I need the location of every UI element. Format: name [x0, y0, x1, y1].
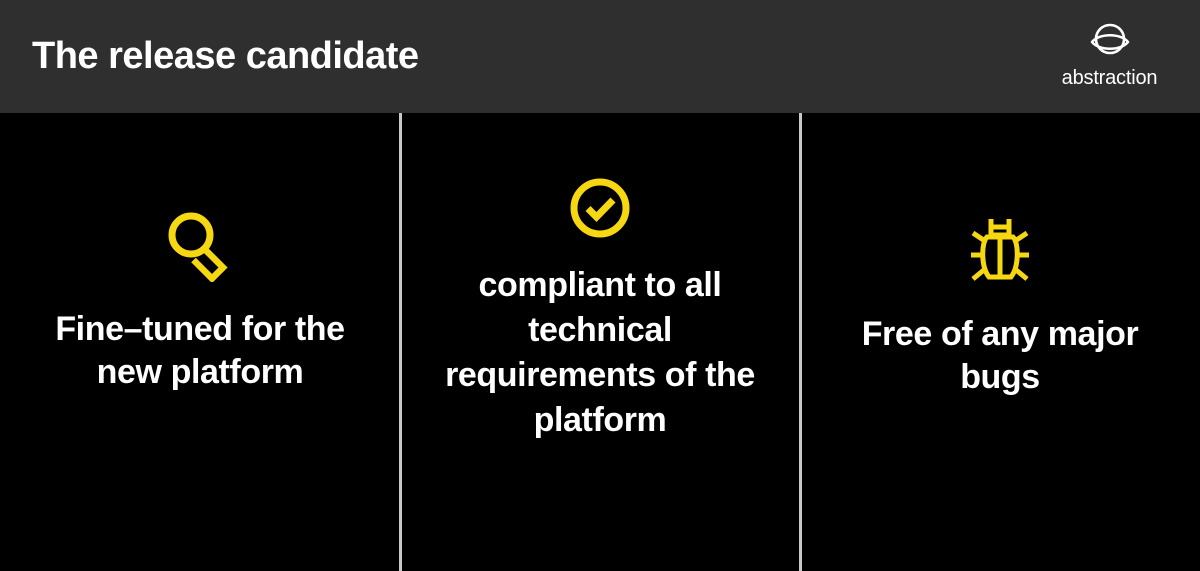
brand-logo: abstraction — [1047, 18, 1172, 89]
feature-columns: Fine–tuned for the new platform complian… — [0, 113, 1200, 571]
column-divider-left — [399, 113, 402, 571]
column-divider-right — [799, 113, 802, 571]
slide: The release candidate abstraction Fine–t… — [0, 0, 1200, 571]
magnifier-icon — [163, 208, 237, 282]
brand-wordmark: abstraction — [1062, 67, 1158, 89]
bug-icon — [963, 213, 1037, 287]
feature-column-3-text: Free of any major bugs — [830, 313, 1170, 399]
feature-column-3-content: Free of any major bugs — [800, 213, 1200, 399]
feature-column-2: compliant to all technical requirements … — [400, 113, 800, 571]
feature-column-3: Free of any major bugs — [800, 113, 1200, 571]
feature-column-1-text: Fine–tuned for the new platform — [30, 308, 370, 394]
feature-column-2-content: compliant to all technical requirements … — [400, 175, 800, 443]
feature-column-2-text: compliant to all technical requirements … — [440, 263, 760, 443]
page-title: The release candidate — [32, 33, 419, 79]
feature-column-1-content: Fine–tuned for the new platform — [0, 208, 400, 394]
abstraction-logo-mark-icon — [1087, 18, 1133, 64]
feature-column-1: Fine–tuned for the new platform — [0, 113, 400, 571]
slide-header: The release candidate abstraction — [0, 0, 1200, 113]
check-circle-icon — [567, 175, 633, 241]
